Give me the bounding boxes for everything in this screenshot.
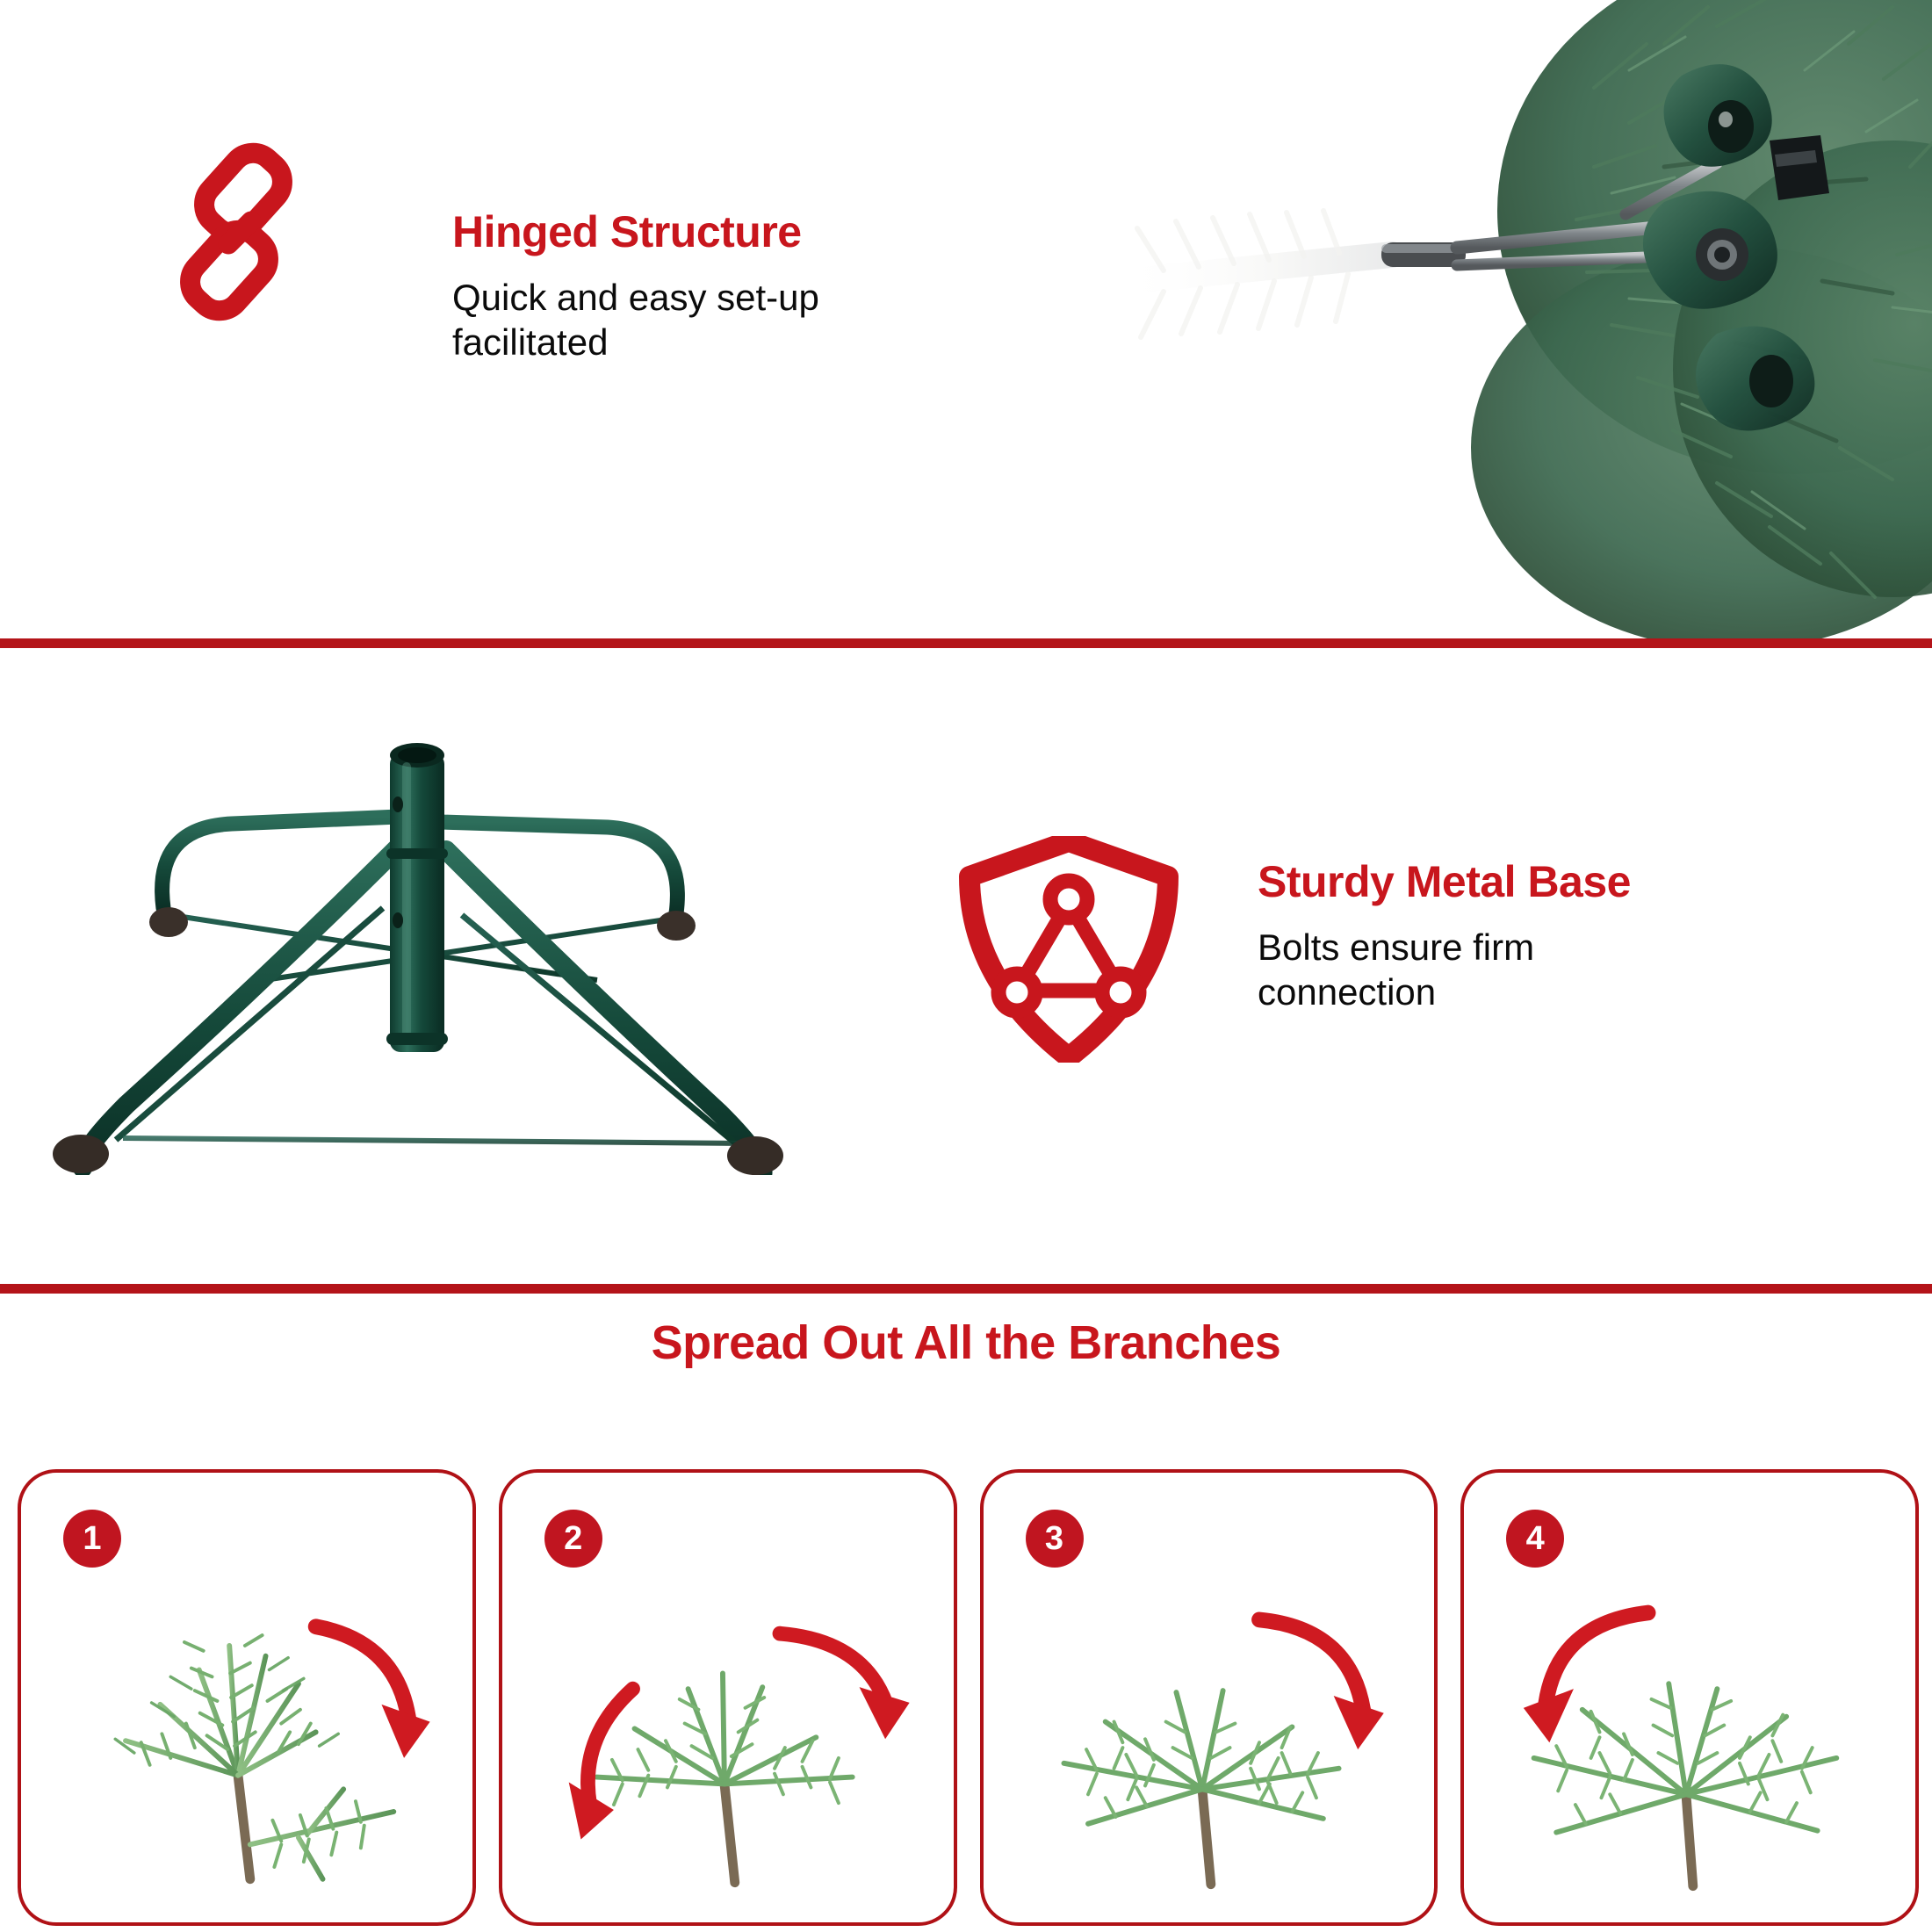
hinged-structure-photo <box>1102 0 1932 641</box>
sturdy-metal-base-photo <box>35 701 808 1175</box>
branch-step-card-list: 1 <box>18 1469 1919 1926</box>
section-divider-2 <box>0 1284 1932 1294</box>
branch-step-card-1[interactable]: 1 <box>18 1469 476 1926</box>
branch-step-badge-2: 2 <box>544 1510 602 1568</box>
sturdy-metal-base-body-line-2: connection <box>1258 970 1872 1014</box>
step-arrow-4 <box>1524 1613 1648 1743</box>
branch-step-card-4[interactable]: 4 <box>1460 1469 1919 1926</box>
section-divider-1 <box>0 638 1932 648</box>
metal-base-svg <box>35 701 808 1175</box>
branch-step-card-2[interactable]: 2 <box>499 1469 957 1926</box>
sturdy-metal-base-heading: Sturdy Metal Base <box>1258 859 1872 905</box>
step-arrow-2-left <box>568 1689 632 1839</box>
feature-section-hinged-structure: Hinged Structure Quick and easy set-up f… <box>0 0 1932 638</box>
branch-step-card-3[interactable]: 3 <box>980 1469 1438 1926</box>
step-arrow-3 <box>1258 1619 1383 1749</box>
hinged-structure-body: Quick and easy set-up facilitated <box>452 275 1014 364</box>
hinged-structure-body-line-2: facilitated <box>452 320 1014 364</box>
sturdy-metal-base-body: Bolts ensure firm connection <box>1258 925 1872 1014</box>
branch-step-badge-4: 4 <box>1506 1510 1564 1568</box>
sturdy-metal-base-text-block: Sturdy Metal Base Bolts ensure firm conn… <box>1258 859 1872 1014</box>
branches-section: Spread Out All the Branches 1 <box>0 1294 1932 1932</box>
branch-step-badge-1: 1 <box>63 1510 121 1568</box>
step-arrow-2-right <box>780 1633 910 1739</box>
sturdy-metal-base-body-line-1: Bolts ensure firm <box>1258 925 1872 970</box>
branches-section-heading: Spread Out All the Branches <box>0 1316 1932 1370</box>
hinged-structure-photo-svg <box>1102 0 1932 641</box>
shield-triangle-icon-svg <box>959 836 1179 1063</box>
branch-step-badge-3: 3 <box>1026 1510 1084 1568</box>
hinged-structure-text-block: Hinged Structure Quick and easy set-up f… <box>452 209 1014 364</box>
chain-link-icon-svg <box>167 141 307 325</box>
shield-triangle-icon-graphic <box>959 836 1179 1063</box>
hinged-structure-body-line-1: Quick and easy set-up <box>452 275 1014 320</box>
chain-link-icon <box>167 141 307 325</box>
hinged-structure-heading: Hinged Structure <box>452 209 1014 256</box>
